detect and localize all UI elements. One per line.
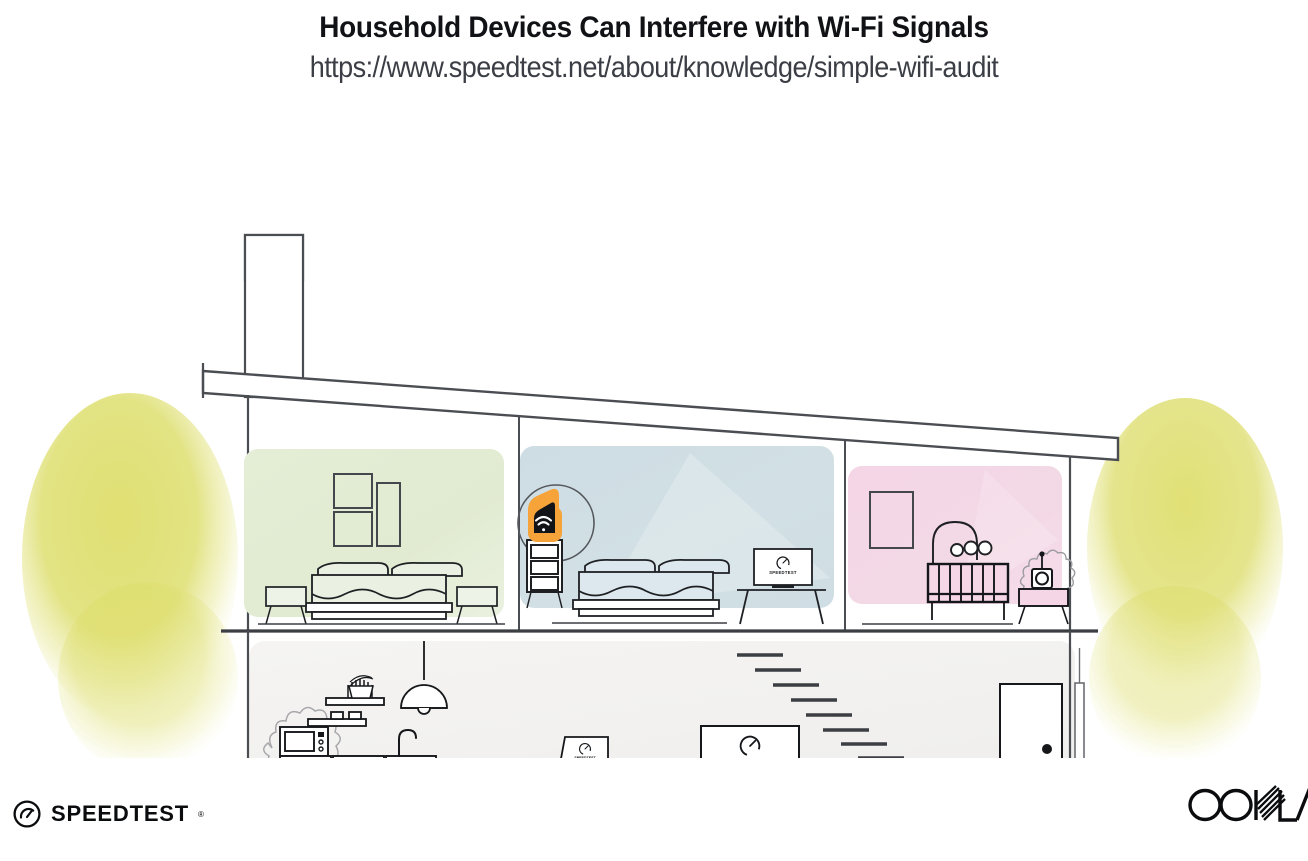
kitchen-counter bbox=[280, 756, 436, 758]
footer: SPEEDTEST ® ® bbox=[0, 761, 1308, 861]
ookla-logo: ® bbox=[1184, 784, 1308, 831]
microwave bbox=[280, 727, 328, 756]
speedtest-wordmark: SPEEDTEST bbox=[51, 801, 189, 827]
bed-blue bbox=[573, 560, 729, 616]
chimney bbox=[245, 235, 303, 397]
infographic-page: Household Devices Can Interfere with Wi-… bbox=[0, 0, 1308, 861]
speedometer-icon bbox=[12, 799, 42, 829]
nightstand-left bbox=[266, 587, 306, 624]
room-bedroom-green bbox=[244, 449, 505, 624]
source-url: https://www.speedtest.net/about/knowledg… bbox=[65, 51, 1242, 85]
roof bbox=[203, 363, 1118, 460]
speedtest-logo: SPEEDTEST ® bbox=[12, 799, 204, 829]
room-nursery-pink bbox=[848, 466, 1075, 624]
crib bbox=[928, 564, 1008, 620]
side-table-nursery bbox=[1019, 589, 1068, 624]
svg-text:SPEEDTEST: SPEEDTEST bbox=[769, 570, 797, 575]
front-door[interactable] bbox=[1000, 684, 1062, 758]
ground-floor-room: SPEEDTEST SPEEDTEST bbox=[248, 631, 1084, 758]
header: Household Devices Can Interfere with Wi-… bbox=[0, 0, 1308, 85]
page-title: Household Devices Can Interfere with Wi-… bbox=[46, 11, 1262, 45]
tree-left bbox=[22, 393, 238, 758]
svg-text:SPEEDTEST: SPEEDTEST bbox=[574, 756, 596, 758]
nightstand-right bbox=[457, 587, 497, 624]
ookla-wordmark-icon: ® bbox=[1184, 784, 1308, 826]
narrow-window bbox=[1075, 648, 1084, 758]
television-living: SPEEDTEST bbox=[701, 726, 799, 758]
tv-monitor-bedroom: SPEEDTEST bbox=[754, 549, 812, 588]
bed-green bbox=[306, 563, 462, 619]
house-illustration: SPEEDTEST bbox=[0, 108, 1308, 758]
room-bedroom-blue: SPEEDTEST bbox=[518, 446, 834, 624]
speedtest-trademark: ® bbox=[198, 810, 204, 819]
